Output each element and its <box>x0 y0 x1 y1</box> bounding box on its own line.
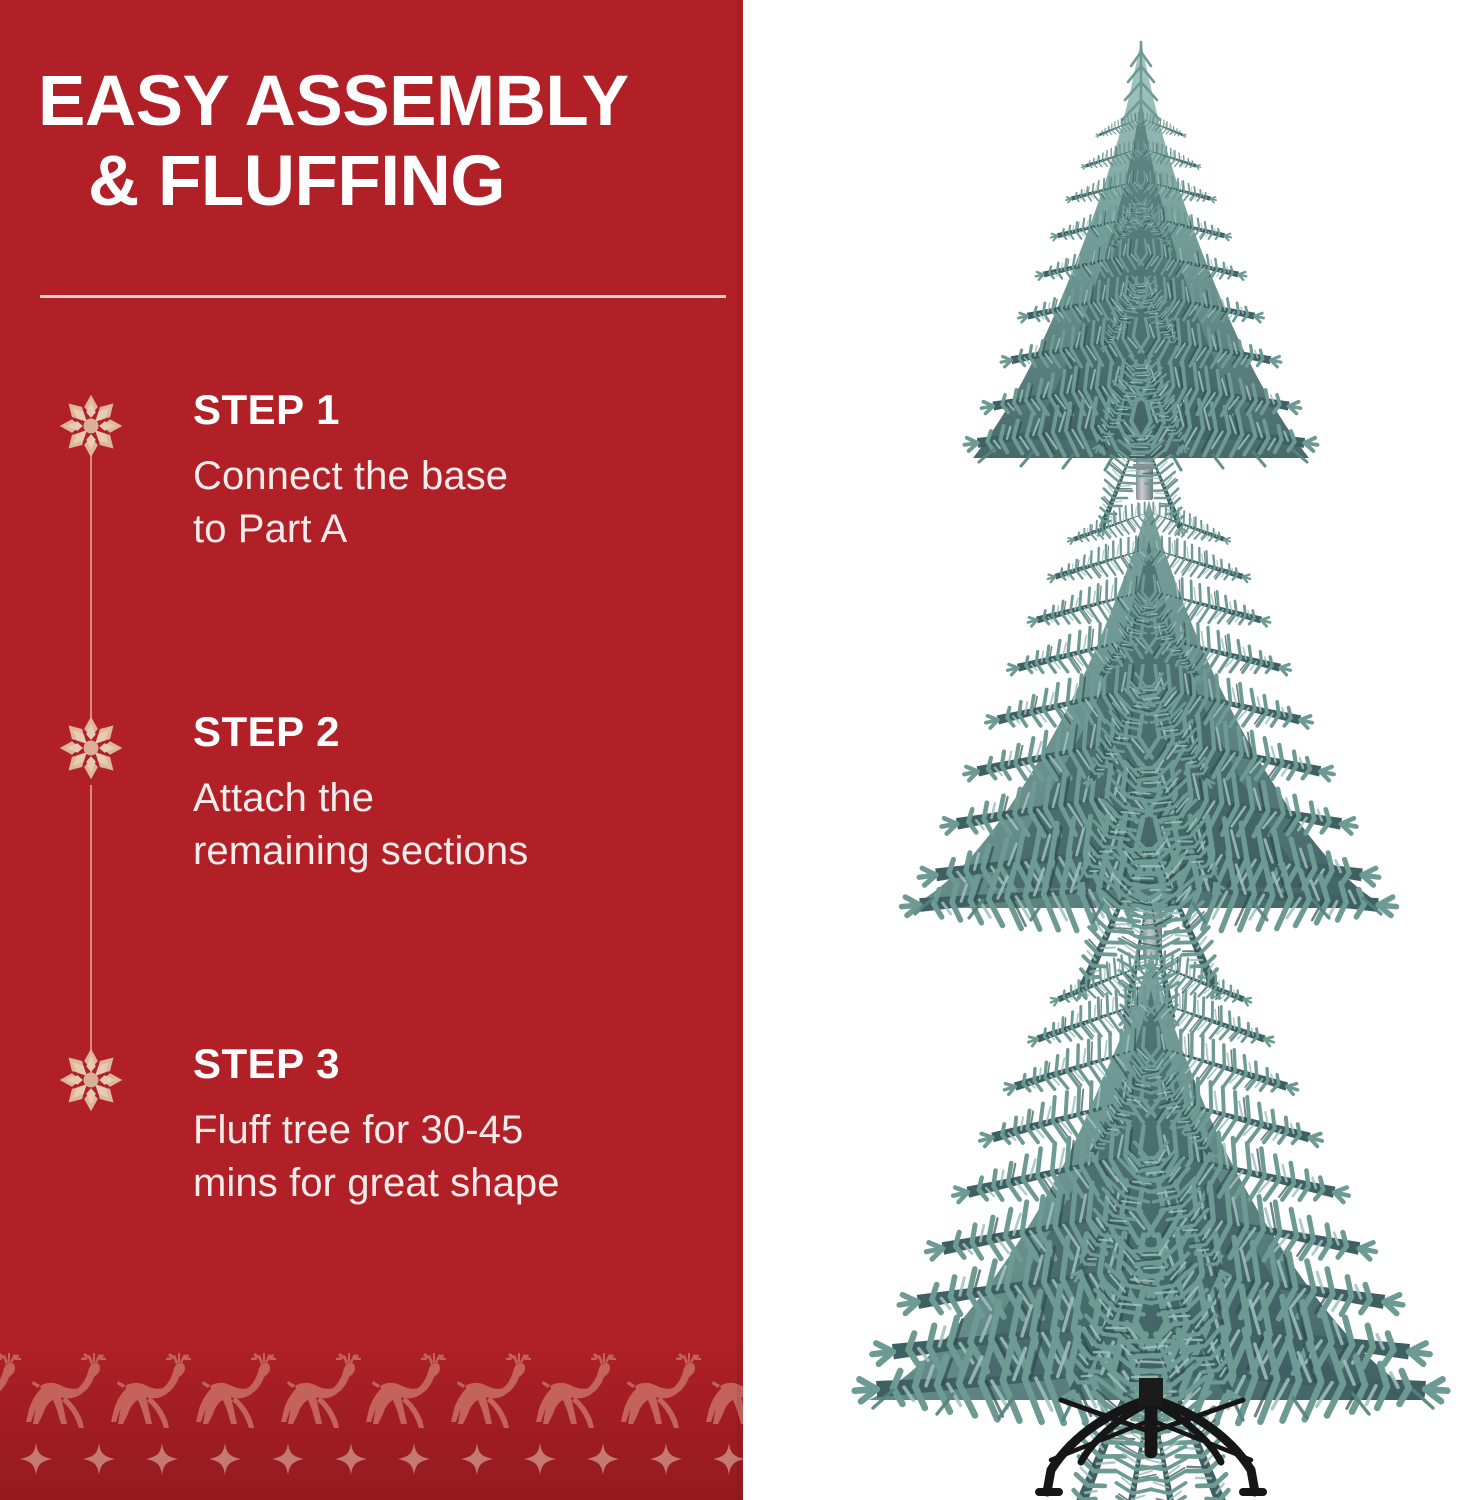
snowflake-icon <box>57 392 125 460</box>
step-label-3: STEP 3 <box>193 1042 713 1086</box>
stand-collar <box>1139 1378 1163 1406</box>
step-description-3-line-1: Fluff tree for 30-45 <box>193 1104 713 1157</box>
step-description-2-line-2: remaining sections <box>193 825 713 878</box>
step-body-1: STEP 1 Connect the base to Part A <box>193 388 713 556</box>
reindeer-pattern <box>0 1348 743 1433</box>
step-description-1-line-2: to Part A <box>193 503 713 556</box>
left-red-panel: EASY ASSEMBLY & FLUFFING <box>0 0 743 1500</box>
step-description-2: Attach the remaining sections <box>193 772 713 878</box>
step-description-1: Connect the base to Part A <box>193 450 713 556</box>
step-label-2: STEP 2 <box>193 710 713 754</box>
step-label-1: STEP 1 <box>193 388 713 432</box>
sparkle-pattern <box>0 1438 743 1482</box>
product-image-area <box>743 0 1478 1500</box>
steps-list: STEP 1 Connect the base to Part A <box>0 0 743 1500</box>
step-description-2-line-1: Attach the <box>193 772 713 825</box>
step-description-1-line-1: Connect the base <box>193 450 713 503</box>
christmas-tree-image <box>743 0 1478 1500</box>
step-description-3: Fluff tree for 30-45 mins for great shap… <box>193 1104 713 1210</box>
snowflake-icon <box>57 1046 125 1114</box>
step-body-2: STEP 2 Attach the remaining sections <box>193 710 713 878</box>
snowflake-icon <box>57 714 125 782</box>
step-body-3: STEP 3 Fluff tree for 30-45 mins for gre… <box>193 1042 713 1210</box>
step-description-3-line-2: mins for great shape <box>193 1157 713 1210</box>
product-infographic: EASY ASSEMBLY & FLUFFING <box>0 0 1478 1500</box>
bottom-decorative-border <box>0 1330 743 1500</box>
